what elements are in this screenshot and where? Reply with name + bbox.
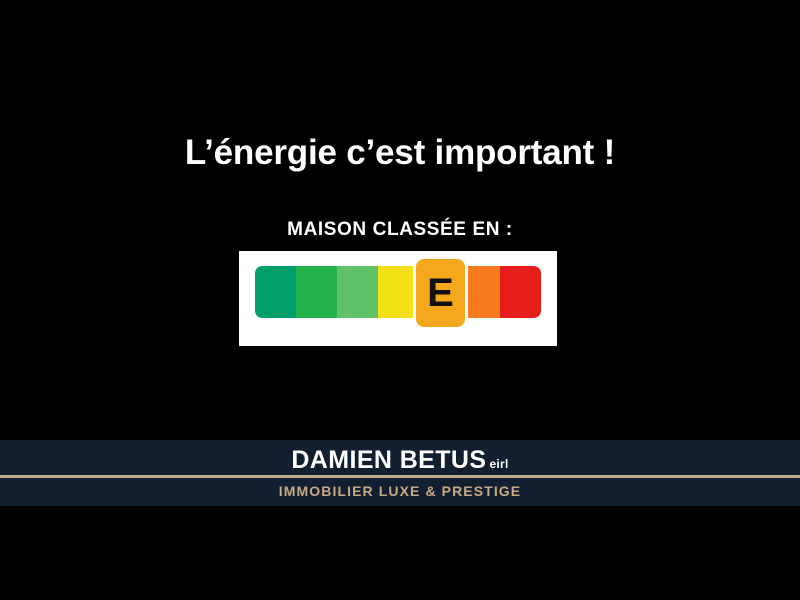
energy-segment-b (296, 266, 337, 318)
energy-segment-c (337, 266, 378, 318)
subtitle-maison-classee: MAISON CLASSÉE EN : (0, 218, 800, 242)
energy-rating-selected-badge: E (413, 256, 468, 330)
energy-segment-a (255, 266, 296, 318)
footer-band: DAMIEN BETUSeirl IMMOBILIER LUXE & PREST… (0, 440, 800, 506)
energy-segment-g (500, 266, 541, 318)
brand-name-suffix: eirl (489, 457, 508, 471)
brand-name: DAMIEN BETUSeirl (0, 445, 800, 479)
brand-name-text: DAMIEN BETUS (291, 446, 486, 474)
page-title: L’énergie c’est important ! (0, 131, 800, 175)
energy-rating-scale (255, 266, 541, 318)
slide: L’énergie c’est important ! MAISON CLASS… (0, 0, 800, 600)
energy-rating-card: E (239, 251, 557, 346)
brand-tagline: IMMOBILIER LUXE & PRESTIGE (0, 481, 800, 501)
footer-divider (0, 475, 800, 478)
